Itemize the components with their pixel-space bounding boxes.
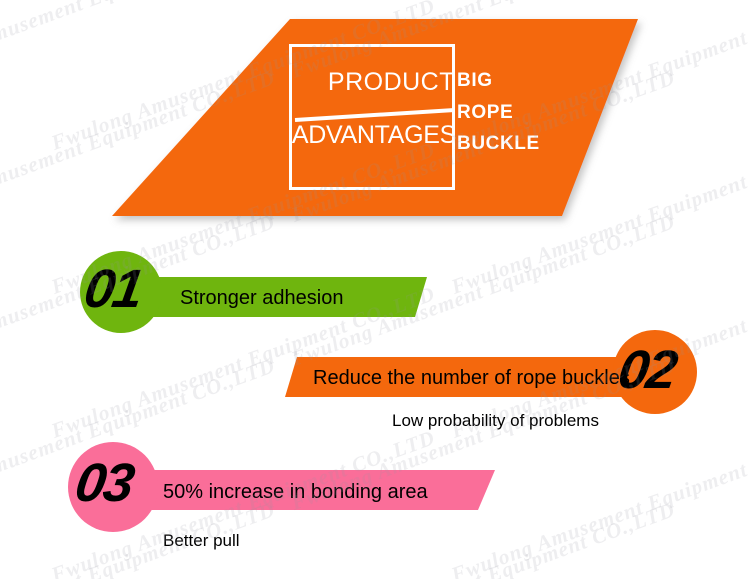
advantage-sublabel-03: Better pull xyxy=(163,531,240,551)
advantage-row-03: 03 50% increase in bonding area Better p… xyxy=(0,0,750,579)
advantage-label-03: 50% increase in bonding area xyxy=(163,481,428,504)
badge-number-03: 03 xyxy=(71,452,137,514)
